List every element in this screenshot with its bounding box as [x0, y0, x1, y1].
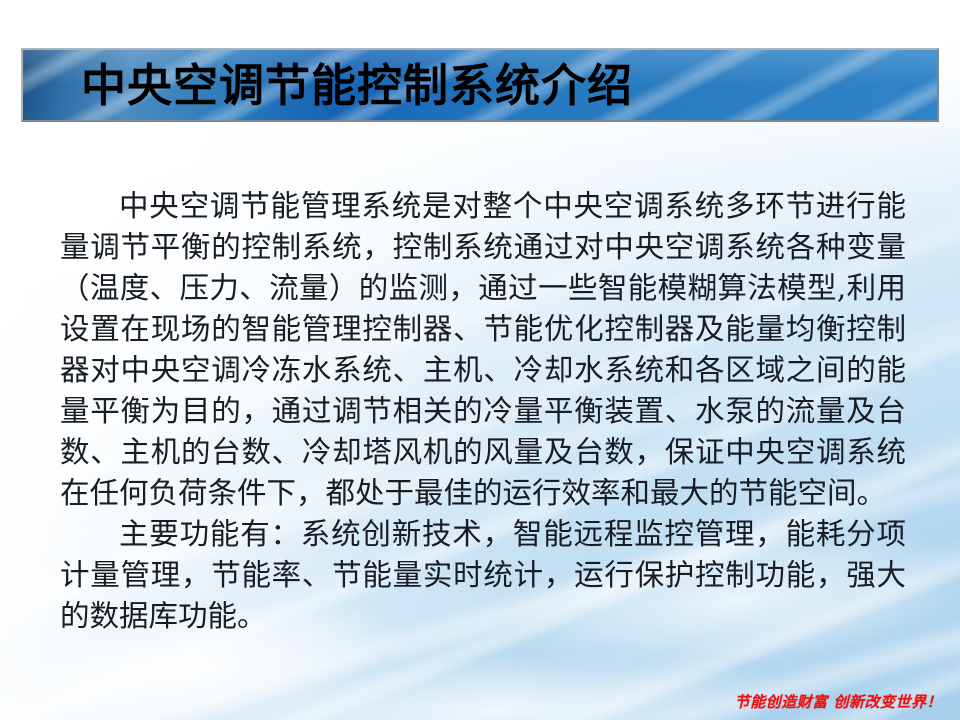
paragraph-overview: 中央空调节能管理系统是对整个中央空调系统多环节进行能量调节平衡的控制系统，控制系… — [60, 186, 906, 514]
page-title: 中央空调节能控制系统介绍 — [81, 63, 633, 108]
body-text-block: 中央空调节能管理系统是对整个中央空调系统多环节进行能量调节平衡的控制系统，控制系… — [60, 186, 906, 637]
paragraph-main-functions: 主要功能有：系统创新技术，智能远程监控管理，能耗分项计量管理，节能率、节能量实时… — [60, 514, 906, 637]
title-banner: 中央空调节能控制系统介绍 — [21, 48, 939, 122]
slide-canvas: 中央空调节能控制系统介绍 中央空调节能管理系统是对整个中央空调系统多环节进行能量… — [0, 0, 960, 720]
footer-slogan: 节能创造财富 创新改变世界！ — [735, 691, 942, 712]
